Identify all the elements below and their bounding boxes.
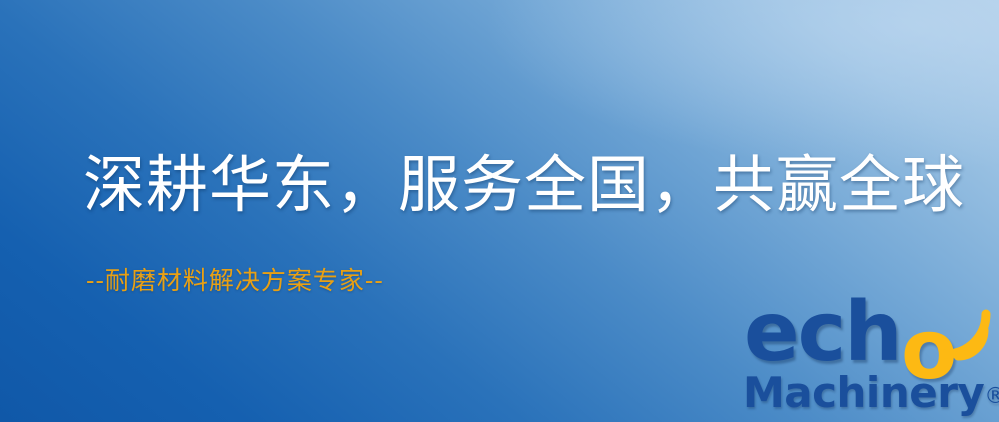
- logo-wordmark: ech o: [742, 296, 999, 376]
- logo-sub-brand: Machinery®: [743, 372, 999, 414]
- logo-brand-text: ech: [744, 292, 901, 374]
- company-logo: ech o Machinery®: [742, 296, 999, 422]
- signal-waves-icon: [930, 294, 999, 366]
- promo-banner: 深耕华东，服务全国，共赢全球 --耐磨材料解决方案专家-- ech o Mach…: [0, 0, 999, 422]
- banner-headline: 深耕华东，服务全国，共赢全球: [83, 152, 965, 217]
- registered-trademark-icon: ®: [984, 384, 999, 409]
- banner-subtitle: --耐磨材料解决方案专家--: [86, 266, 384, 296]
- logo-sub-brand-text: Machinery: [743, 368, 984, 417]
